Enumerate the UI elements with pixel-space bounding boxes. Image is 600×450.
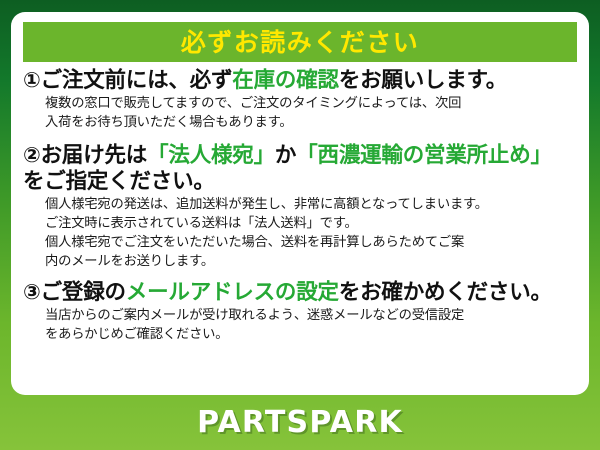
page-title: 必ずお読みください <box>181 30 420 55</box>
notice-item-1-body-line-2: 入荷をお待ち頂いただく場合もあります。 <box>45 114 577 133</box>
notice-item-3-number: ③ <box>23 280 41 304</box>
notice-item-2-heading-line-2: をご指定ください。 <box>23 169 577 195</box>
notice-item-3-heading: ③ご登録のメールアドレスの設定をお確かめください。 <box>23 280 577 306</box>
notice-item-3-heading-part-3: をお確かめください。 <box>339 280 552 305</box>
notice-item-3-body: 当店からのご案内メールが受け取れるよう、迷惑メールなどの受信設定 をあらかじめご… <box>45 307 577 345</box>
notice-item-1-highlight: 在庫の確認 <box>232 68 339 93</box>
notice-item-2-heading-part-1: お届け先は <box>41 143 148 168</box>
notice-item-1-heading-part-1: ご注文前には、必ず <box>41 68 233 93</box>
footer-brand-bar: PARTSPARK <box>0 395 600 450</box>
notice-item-1-body: 複数の窓口で販売してますので、ご注文のタイミングによっては、次回 入荷をお待ち頂… <box>45 95 577 133</box>
notice-item-2-highlight-1: 「法人様宛」 <box>147 143 275 168</box>
notice-item-2-body-line-4: 内のメールをお送りします。 <box>45 253 577 272</box>
notice-card: 必ずお読みください ①ご注文前には、必ず在庫の確認をお願いします。 複数の窓口で… <box>11 12 589 395</box>
notice-item-2-body-line-3: 個人様宅宛でご注文をいただいた場合、送料を再計算しあらためてご案 <box>45 234 577 253</box>
notice-item-1-heading-part-3: をお願いします。 <box>339 68 507 93</box>
notice-item-3-heading-part-1: ご登録の <box>41 280 126 305</box>
notice-item-2-body-line-2: ご注文時に表示されている送料は「法人送料」です。 <box>45 215 577 234</box>
brand-logo-text: PARTSPARK <box>197 408 403 438</box>
notice-item-2-heading-part-3: か <box>275 143 296 168</box>
notice-item-list: ①ご注文前には、必ず在庫の確認をお願いします。 複数の窓口で販売してますので、ご… <box>23 68 577 345</box>
notice-item-1-number: ① <box>23 68 41 92</box>
notice-item-3-highlight: メールアドレスの設定 <box>126 280 339 305</box>
notice-item-3-body-line-1: 当店からのご案内メールが受け取れるよう、迷惑メールなどの受信設定 <box>45 307 577 326</box>
title-bar: 必ずお読みください <box>23 22 577 62</box>
notice-item-1: ①ご注文前には、必ず在庫の確認をお願いします。 複数の窓口で販売してますので、ご… <box>23 68 577 133</box>
notice-item-2-body-line-1: 個人様宅宛の発送は、追加送料が発生し、非常に高額となってしまいます。 <box>45 196 577 215</box>
notice-item-1-heading: ①ご注文前には、必ず在庫の確認をお願いします。 <box>23 68 577 94</box>
notice-item-2-body: 個人様宅宛の発送は、追加送料が発生し、非常に高額となってしまいます。 ご注文時に… <box>45 196 577 272</box>
notice-item-3: ③ご登録のメールアドレスの設定をお確かめください。 当店からのご案内メールが受け… <box>23 280 577 345</box>
notice-item-3-body-line-2: をあらかじめご確認ください。 <box>45 326 577 345</box>
notice-item-2-heading: ②お届け先は「法人様宛」か「西濃運輸の営業所止め」 <box>23 143 577 169</box>
notice-item-2-highlight-2: 「西濃運輸の営業所止め」 <box>296 143 552 168</box>
notice-item-2-number: ② <box>23 143 41 167</box>
notice-banner: 必ずお読みください ①ご注文前には、必ず在庫の確認をお願いします。 複数の窓口で… <box>0 0 600 450</box>
notice-item-2: ②お届け先は「法人様宛」か「西濃運輸の営業所止め」 をご指定ください。 個人様宅… <box>23 143 577 272</box>
notice-item-1-body-line-1: 複数の窓口で販売してますので、ご注文のタイミングによっては、次回 <box>45 95 577 114</box>
